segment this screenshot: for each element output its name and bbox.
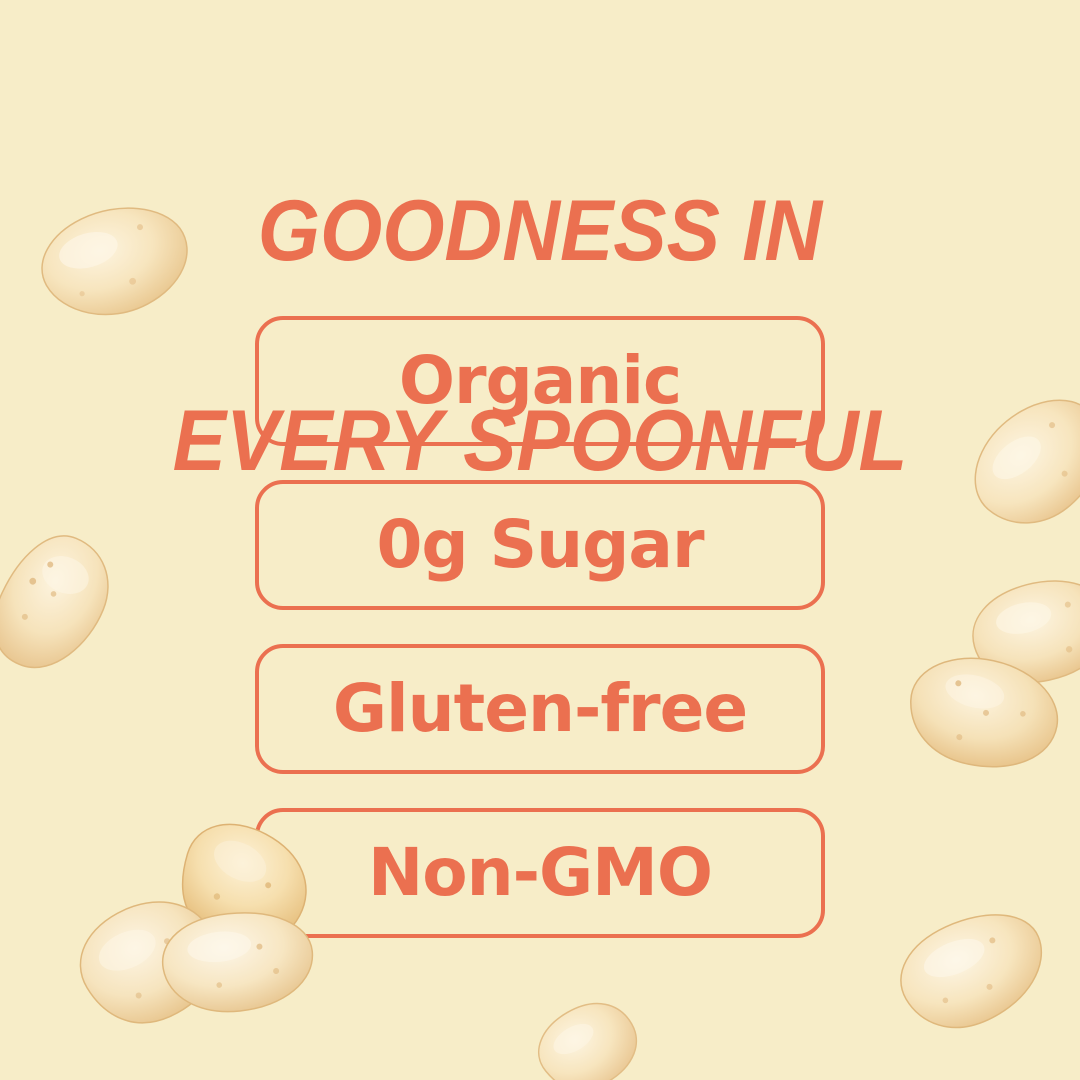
badge-organic[interactable]: Organic [255, 316, 825, 446]
badge-label: Gluten-free [333, 676, 747, 742]
badge-label: 0g Sugar [377, 512, 704, 578]
badge-non-gmo[interactable]: Non-GMO [255, 808, 825, 938]
badge-gluten-free[interactable]: Gluten-free [255, 644, 825, 774]
cereal-puff-bottom-right [874, 883, 1072, 1056]
cereal-puff-bottom-center [515, 979, 655, 1080]
poster-canvas: Goodness in Every Spoonful Organic 0g Su… [0, 0, 1080, 1080]
badge-label: Non-GMO [368, 840, 712, 906]
cereal-puff-bottom-left-b [49, 869, 246, 1055]
badge-list: Organic 0g Sugar Gluten-free Non-GMO [255, 316, 825, 972]
headline-line-1: Goodness in [38, 179, 1042, 284]
badge-label: Organic [399, 348, 681, 414]
cereal-puff-right-lower [887, 632, 1077, 793]
badge-0g-sugar[interactable]: 0g Sugar [255, 480, 825, 610]
